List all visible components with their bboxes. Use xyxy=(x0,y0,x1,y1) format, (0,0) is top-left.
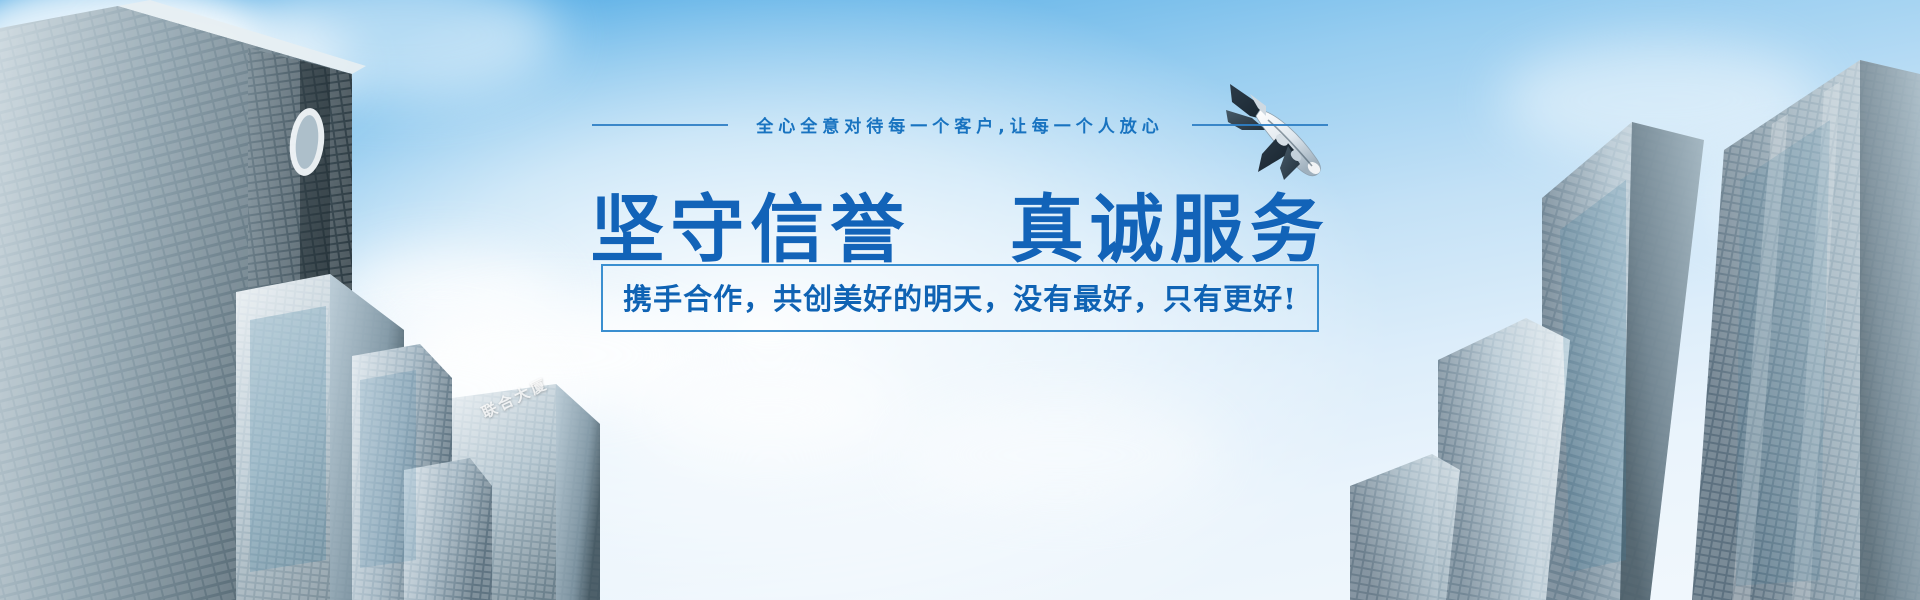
airplane-icon xyxy=(1222,76,1342,191)
headline-part-left: 坚守信誉 xyxy=(590,187,910,273)
subtitle-box: 携手合作，共创美好的明天，没有最好，只有更好! xyxy=(601,264,1319,332)
headline-part-right: 真诚服务 xyxy=(1010,187,1330,273)
skyscraper-cluster-left xyxy=(0,0,620,600)
hero-banner: 联合大厦 xyxy=(0,0,1920,600)
skyscraper-cluster-right xyxy=(1320,0,1920,600)
tagline-text: 全心全意对待每一个客户,让每一个人放心 xyxy=(756,112,1163,137)
